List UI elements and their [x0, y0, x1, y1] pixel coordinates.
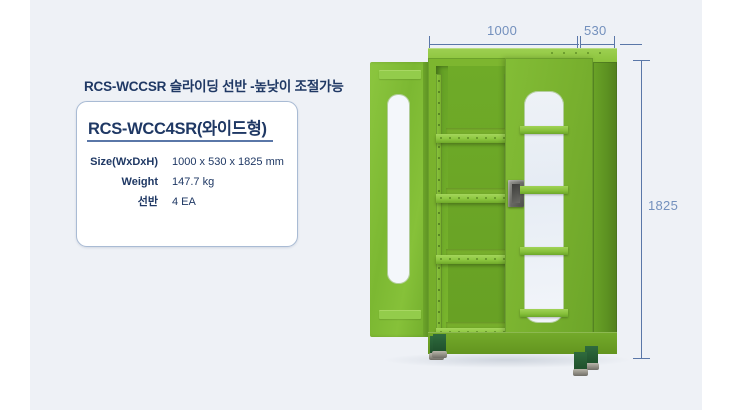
- window-cross-bar: [520, 126, 568, 134]
- shelf-holes: [440, 137, 514, 139]
- spec-label-weight: Weight: [87, 175, 158, 195]
- spec-value-size: 1000 x 530 x 1825 mm: [158, 155, 287, 175]
- dimension-label-depth: 530: [584, 23, 607, 38]
- door-window-glass: [387, 94, 410, 284]
- handle-recess: [512, 184, 520, 203]
- door-rail-top: [379, 70, 421, 79]
- door-rail-bottom: [379, 310, 421, 319]
- cabinet-open-door: [370, 62, 428, 337]
- cabinet-post-left: [436, 74, 442, 348]
- leveling-foot: [433, 334, 446, 352]
- leveling-foot: [574, 352, 587, 370]
- dimension-label-height: 1825: [648, 198, 678, 213]
- cabinet-closed-door: [505, 58, 593, 348]
- window-cross-bar: [520, 247, 568, 255]
- dimension-line-width: [429, 44, 579, 45]
- table-row: 선반 4 EA: [87, 195, 287, 215]
- spec-value-weight: 147.7 kg: [158, 175, 287, 195]
- foot-pad: [432, 351, 447, 358]
- cabinet-back-wall: [448, 66, 510, 340]
- dimension-label-width: 1000: [487, 23, 517, 38]
- product-headline: RCS-WCCSR 슬라이딩 선반 -높낮이 조절가능: [84, 75, 344, 95]
- dimension-tick-height-bottom: [633, 358, 650, 359]
- window-cross-bar: [520, 309, 568, 317]
- dimension-tick-height-top: [633, 60, 650, 61]
- top-deck-bolts: [551, 52, 611, 54]
- shelf-holes: [440, 258, 514, 260]
- cabinet-base: [428, 332, 617, 354]
- cabinet-interior: [436, 66, 510, 340]
- table-row: Size(WxDxH) 1000 x 530 x 1825 mm: [87, 155, 287, 175]
- spec-table: Size(WxDxH) 1000 x 530 x 1825 mm Weight …: [87, 155, 287, 215]
- table-row: Weight 147.7 kg: [87, 175, 287, 195]
- foot-pad: [573, 369, 588, 376]
- product-title: RCS-WCC4SR(와이드형): [88, 115, 267, 139]
- title-divider: [87, 140, 273, 142]
- dimension-leader-top: [620, 44, 642, 45]
- window-cross-bar: [520, 186, 568, 194]
- spec-label-size: Size(WxDxH): [87, 155, 158, 175]
- screenshot-root: RCS-WCCSR 슬라이딩 선반 -높낮이 조절가능 RCS-WCC4SR(와…: [0, 0, 730, 410]
- cabinet-side-panel: [593, 62, 617, 344]
- dimension-line-height: [641, 60, 642, 359]
- post-perforations: [438, 80, 440, 342]
- dimension-line-depth: [580, 44, 615, 45]
- spec-label-shelf: 선반: [87, 195, 158, 215]
- shelf-holes: [440, 197, 514, 199]
- spec-value-shelf: 4 EA: [158, 195, 287, 215]
